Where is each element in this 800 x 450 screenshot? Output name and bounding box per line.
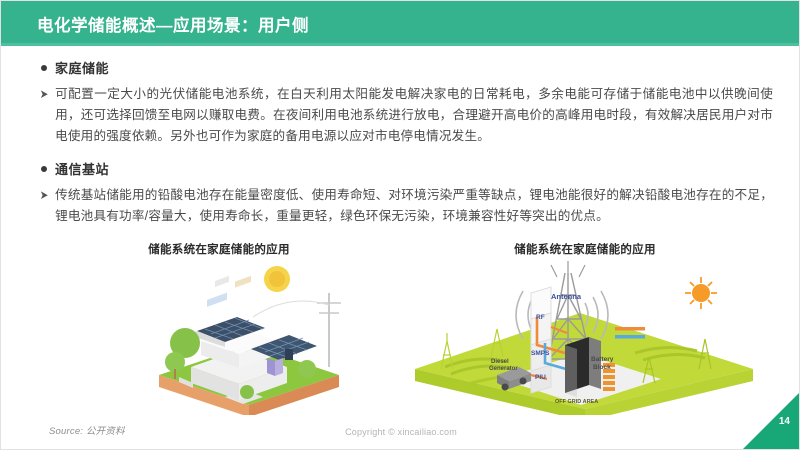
- label-piu: PIU: [535, 374, 546, 381]
- round-bullet-icon: [41, 166, 47, 172]
- section-paragraph-row: ➤ 可配置一定大小的光伏储能电池系统，在白天利用太阳能发电解决家电的日常耗电，多…: [1, 84, 800, 147]
- slide-body: 家庭储能 ➤ 可配置一定大小的光伏储能电池系统，在白天利用太阳能发电解决家电的日…: [1, 46, 800, 227]
- label-off-grid-area: OFF GRID AREA: [555, 399, 598, 405]
- slide: 电化学储能概述—应用场景：用户侧 家庭储能 ➤ 可配置一定大小的光伏储能电池系统…: [0, 0, 800, 450]
- figure-image-house: [39, 257, 399, 415]
- section-home-storage: 家庭储能 ➤ 可配置一定大小的光伏储能电池系统，在白天利用太阳能发电解决家电的日…: [1, 58, 800, 147]
- label-diesel-generator: Diesel: [491, 359, 509, 365]
- section-heading-label: 通信基站: [55, 159, 109, 178]
- section-paragraph-text: 传统基站储能用的铅酸电池存在能量密度低、使用寿命短、对环境污染严重等缺点，锂电池…: [55, 185, 773, 227]
- label-battery-block-2: Block: [593, 364, 611, 371]
- figure-caption: 储能系统在家庭储能的应用: [39, 241, 399, 257]
- section-base-station: 通信基站 ➤ 传统基站储能用的铅酸电池存在能量密度低、使用寿命短、对环境污染严重…: [1, 159, 800, 227]
- label-diesel-generator-2: Generator: [489, 366, 518, 372]
- corner-triangle-decoration: [743, 393, 799, 449]
- section-paragraph-text: 可配置一定大小的光伏储能电池系统，在白天利用太阳能发电解决家电的日常耗电，多余电…: [55, 84, 773, 147]
- label-rf: RF: [536, 314, 545, 321]
- label-smps: SMPS: [531, 350, 550, 357]
- arrow-bullet-icon: ➤: [40, 84, 49, 147]
- figure-image-base-station: Antenna RF SMPS PIU Diesel Generator Bat…: [405, 257, 765, 415]
- section-heading-row: 家庭储能: [1, 58, 800, 77]
- label-battery-block: Battery: [591, 356, 614, 363]
- page-title: 电化学储能概述—应用场景：用户侧: [37, 12, 309, 36]
- label-antenna: Antenna: [551, 292, 582, 301]
- section-heading-row: 通信基站: [1, 159, 800, 178]
- figure-row: 储能系统在家庭储能的应用: [1, 241, 800, 421]
- page-number: 14: [779, 416, 790, 427]
- arrow-bullet-icon: ➤: [40, 185, 49, 227]
- figure-caption: 储能系统在家庭储能的应用: [405, 241, 765, 257]
- figure-home-storage: 储能系统在家庭储能的应用: [39, 241, 399, 421]
- round-bullet-icon: [41, 65, 47, 71]
- section-paragraph-row: ➤ 传统基站储能用的铅酸电池存在能量密度低、使用寿命短、对环境污染严重等缺点，锂…: [1, 185, 800, 227]
- figure-base-station: 储能系统在家庭储能的应用: [405, 241, 765, 421]
- copyright-note: Copyright © xincailiao.com: [1, 427, 800, 437]
- section-heading-label: 家庭储能: [55, 58, 109, 77]
